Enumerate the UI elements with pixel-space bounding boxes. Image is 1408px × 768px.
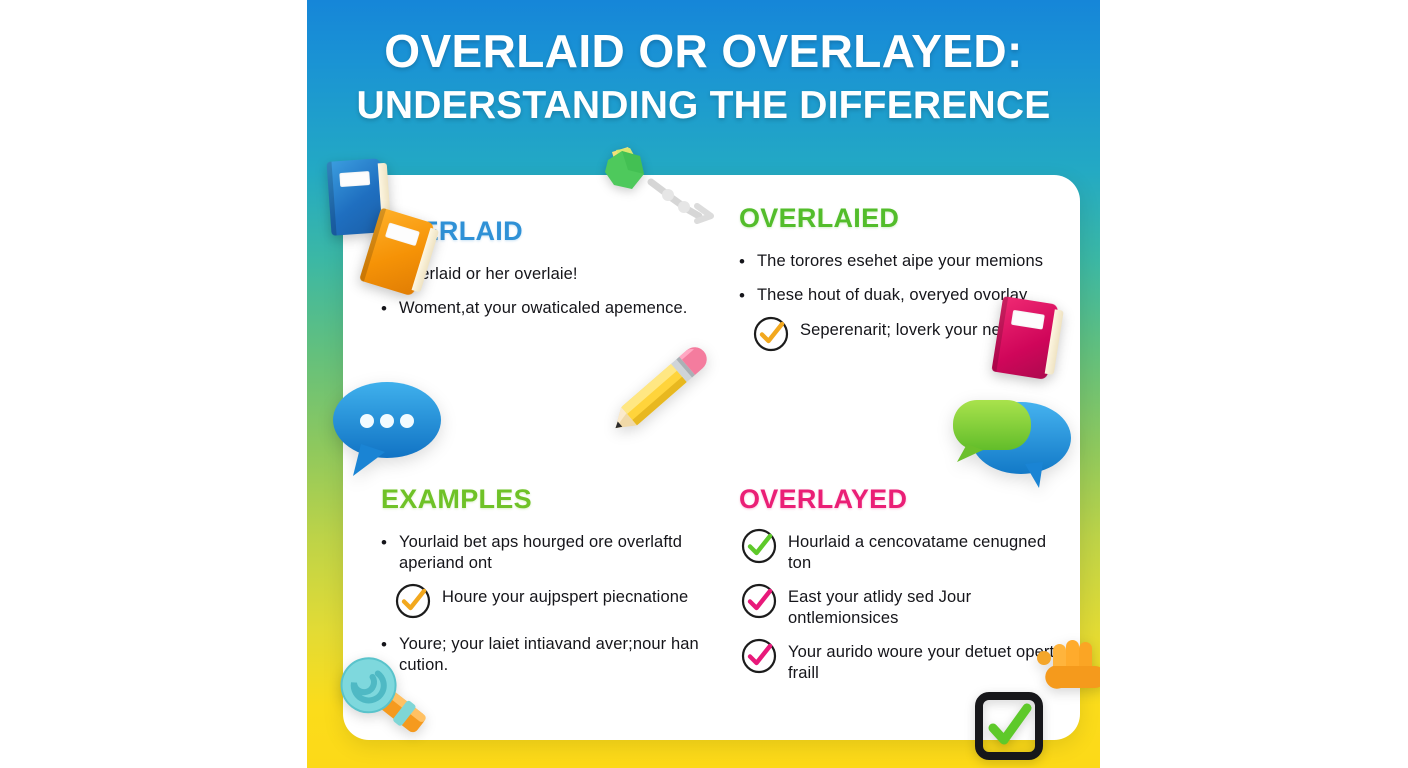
list-item-text: The torores esehet aipe your memions: [757, 251, 1079, 272]
infographic-canvas: OVERLAID OR OVERLAYED: UNDERSTANDING THE…: [0, 0, 1408, 768]
list-item-text: These hout of duak, overyed ovorlay: [757, 285, 1079, 306]
bullet-dot-icon: •: [381, 264, 399, 285]
list-item: Your aurido woure your detuet opert frai…: [739, 642, 1069, 684]
section-overlaied-list: • The torores esehet aipe your memions •…: [739, 251, 1079, 354]
list-item-text: Overlaid or her overlaie!: [399, 264, 711, 285]
section-examples: EXAMPLES • Yourlaid bet aps hourged ore …: [381, 484, 721, 689]
section-overlaied-heading: OVERLAIED: [739, 203, 1079, 234]
section-overlaid: OVERLAID • Overlaid or her overlaie! • W…: [381, 216, 711, 333]
section-overlayed: OVERLAYED Hourlaid a cencovatame cenugne…: [739, 484, 1069, 697]
list-item-text: Seperenarit; loverk your nesiones: [800, 320, 1079, 341]
section-overlaid-heading: OVERLAID: [381, 216, 711, 247]
circle-check-amber-icon: [751, 314, 791, 354]
list-item-text: Houre your aujpspert piecnatione: [442, 587, 721, 608]
bullet-dot-icon: •: [739, 285, 757, 306]
list-item-text: East your atlidy sed Jour ontlemionsices: [788, 587, 1069, 629]
list-item: • The torores esehet aipe your memions: [739, 251, 1079, 272]
list-item: • Overlaid or her overlaie!: [381, 264, 711, 285]
list-item: • These hout of duak, overyed ovorlay: [739, 285, 1079, 306]
bullet-dot-icon: •: [739, 251, 757, 272]
section-overlaied: OVERLAIED • The torores esehet aipe your…: [739, 203, 1079, 367]
list-item-text: Hourlaid a cencovatame cenugned ton: [788, 532, 1069, 574]
list-item: • Youre; your laiet intiavand aver;nour …: [381, 634, 721, 676]
poster-panel: OVERLAID OR OVERLAYED: UNDERSTANDING THE…: [307, 0, 1100, 768]
section-overlaid-list: • Overlaid or her overlaie! • Woment,at …: [381, 264, 711, 320]
list-item: Hourlaid a cencovatame cenugned ton: [739, 532, 1069, 574]
bullet-dot-icon: •: [381, 634, 399, 655]
bullet-dot-icon: •: [381, 298, 399, 319]
title-line-2: UNDERSTANDING THE DIFFERENCE: [307, 83, 1100, 130]
list-item: Seperenarit; loverk your nesiones: [751, 320, 1079, 354]
circle-check-green-icon: [739, 526, 779, 566]
section-examples-list: • Yourlaid bet aps hourged ore overlaftd…: [381, 532, 721, 676]
list-item: • Yourlaid bet aps hourged ore overlaftd…: [381, 532, 721, 574]
list-item-text: Yourlaid bet aps hourged ore overlaftd a…: [399, 532, 721, 574]
circle-check-pink-icon: [739, 636, 779, 676]
list-item-text: Youre; your laiet intiavand aver;nour ha…: [399, 634, 721, 676]
circle-check-pink-icon: [739, 581, 779, 621]
list-item: Houre your aujpspert piecnatione: [393, 587, 721, 621]
section-overlayed-heading: OVERLAYED: [739, 484, 1069, 515]
section-overlayed-list: Hourlaid a cencovatame cenugned ton East…: [739, 532, 1069, 684]
bullet-dot-icon: •: [381, 532, 399, 553]
circle-check-amber-icon: [393, 581, 433, 621]
list-item-text: Your aurido woure your detuet opert frai…: [788, 642, 1069, 684]
list-item: • Woment,at your owaticaled apemence.: [381, 298, 711, 319]
poster-title: OVERLAID OR OVERLAYED: UNDERSTANDING THE…: [307, 26, 1100, 129]
list-item: East your atlidy sed Jour ontlemionsices: [739, 587, 1069, 629]
section-examples-heading: EXAMPLES: [381, 484, 721, 515]
title-line-1: OVERLAID OR OVERLAYED:: [307, 26, 1100, 77]
list-item-text: Woment,at your owaticaled apemence.: [399, 298, 711, 319]
